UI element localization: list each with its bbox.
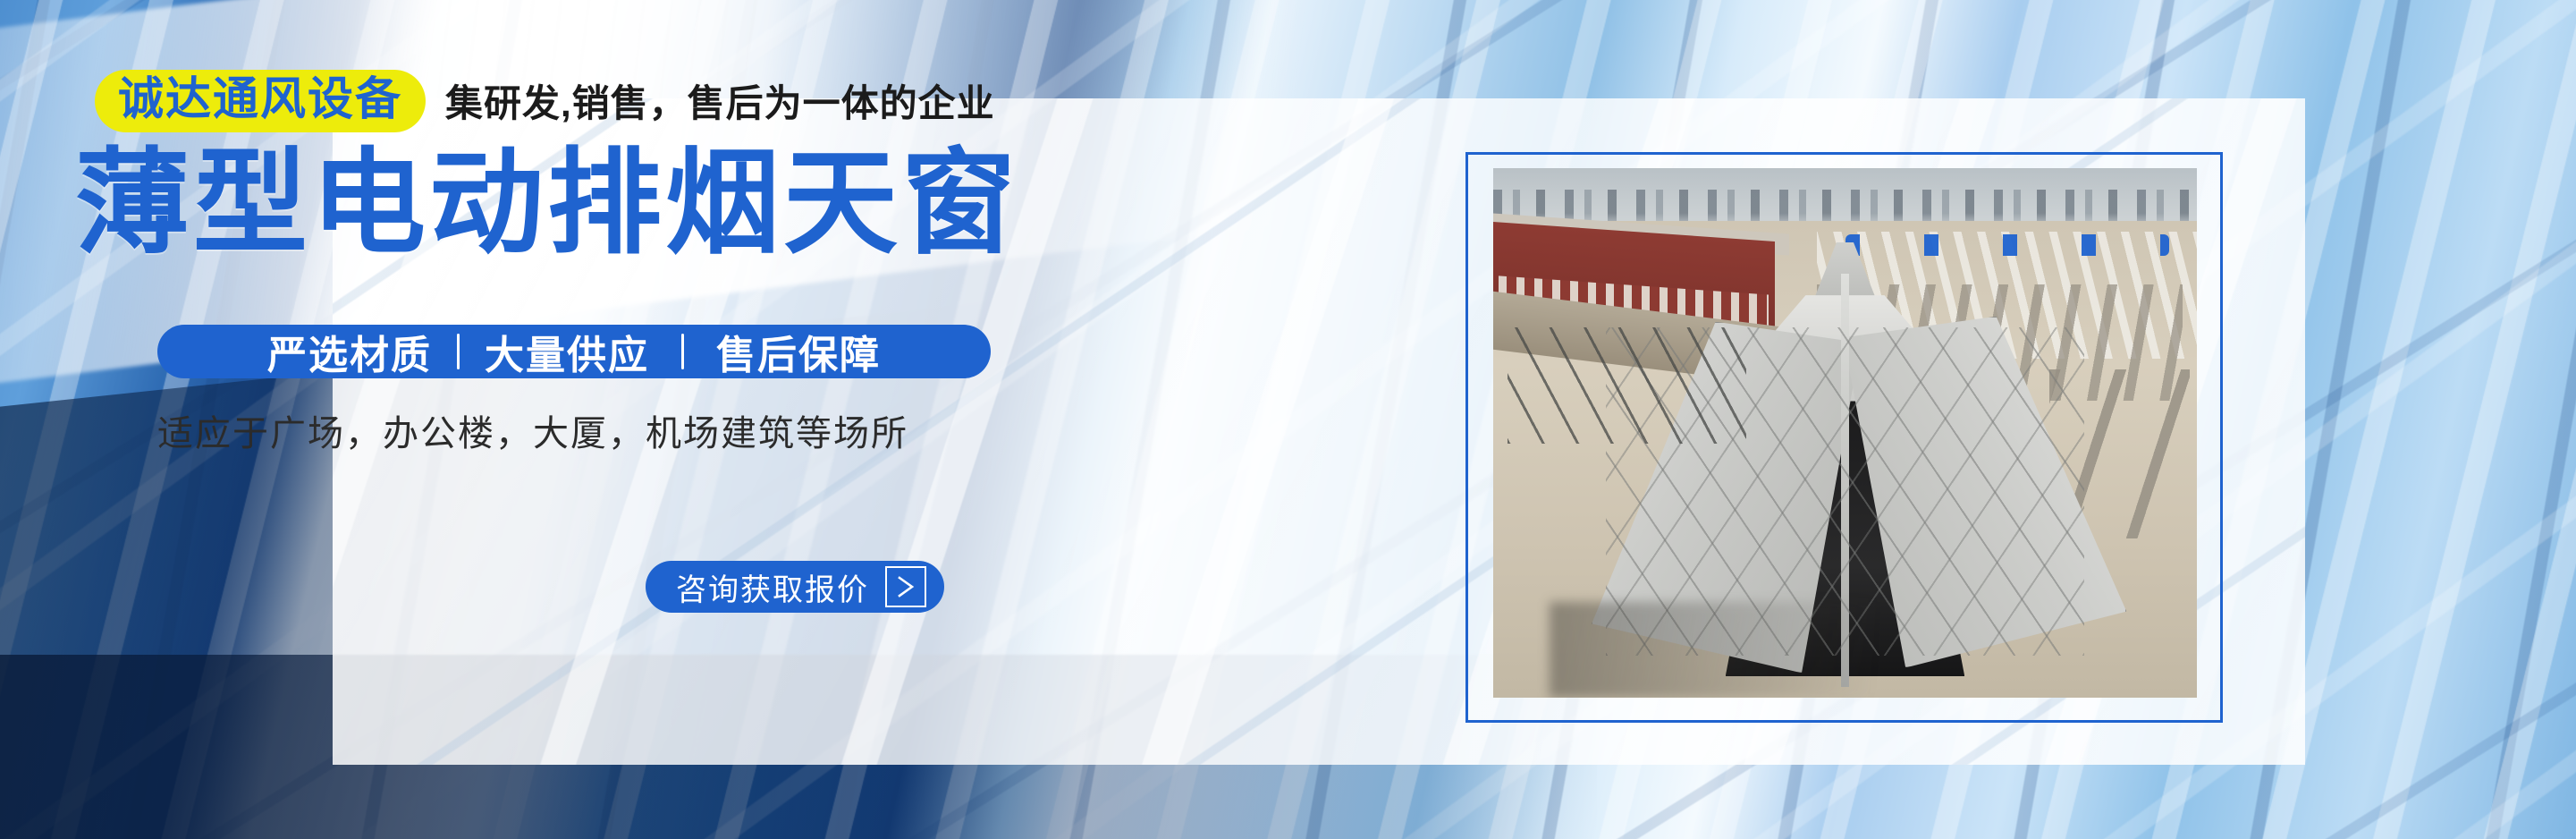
feature-divider-2 xyxy=(681,334,684,369)
photo-blue-vent-caps xyxy=(1845,234,2169,256)
tagline-row: 诚达通风设备 集研发,销售，售后为一体的企业 xyxy=(95,70,995,132)
product-photo xyxy=(1493,168,2197,698)
feature-item-1: 严选材质 xyxy=(262,323,437,380)
tagline-text: 集研发,销售，售后为一体的企业 xyxy=(445,73,995,128)
feature-pill-content: 严选材质 大量供应 售后保障 xyxy=(262,323,886,380)
feature-divider-1 xyxy=(457,334,460,369)
photo-ground-shadow xyxy=(1550,602,1873,698)
text-column: 诚达通风设备 集研发,销售，售后为一体的企业 薄型电动排烟天窗 严选材质 大量供… xyxy=(0,0,1270,839)
headline: 薄型电动排烟天窗 xyxy=(75,147,1019,261)
sub-description: 适应于广场，办公楼，大厦，机场建筑等场所 xyxy=(157,404,908,456)
feature-item-3: 售后保障 xyxy=(711,323,886,380)
brand-badge: 诚达通风设备 xyxy=(95,70,426,132)
chevron-right-icon xyxy=(885,566,926,607)
photo-roof-poles xyxy=(1508,327,1747,444)
promo-banner: 诚达通风设备 集研发,销售，售后为一体的企业 薄型电动排烟天窗 严选材质 大量供… xyxy=(0,0,2576,839)
feature-pill: 严选材质 大量供应 售后保障 xyxy=(157,325,991,378)
feature-item-2: 大量供应 xyxy=(479,323,655,380)
cta-label: 咨询获取报价 xyxy=(676,565,869,609)
cta-quote-button[interactable]: 咨询获取报价 xyxy=(646,561,944,613)
